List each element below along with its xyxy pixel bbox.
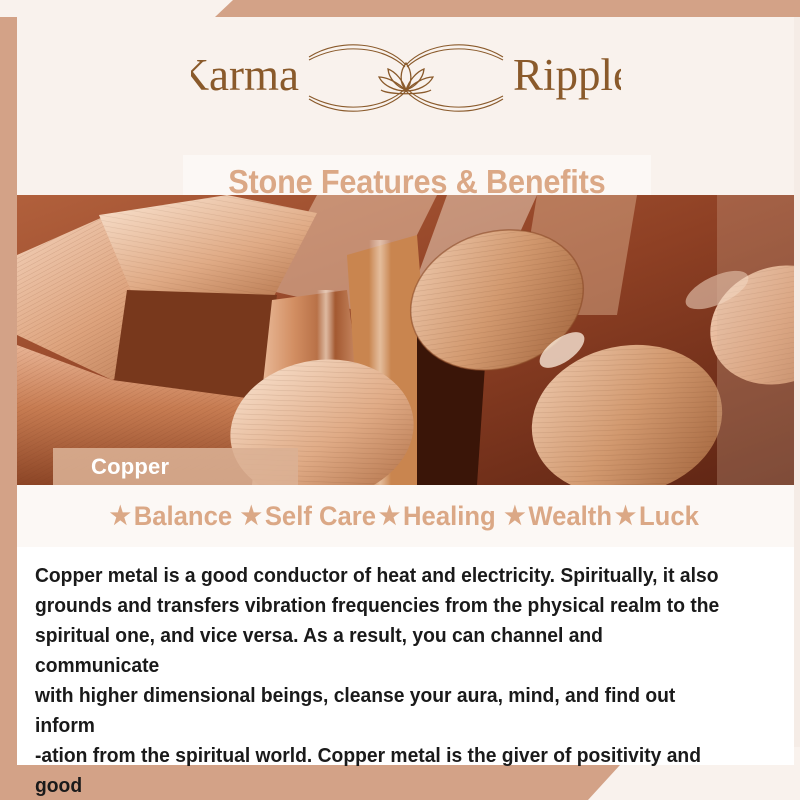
star-icon: ★ xyxy=(241,504,262,529)
star-icon: ★ xyxy=(615,504,636,529)
benefit-item-luck: Luck xyxy=(639,501,699,532)
benefit-item-self-care: Self Care xyxy=(265,501,376,532)
photo-caption-bar: Copper xyxy=(53,448,298,485)
frame-left-accent xyxy=(0,17,17,783)
description-panel: Copper metal is a good conductor of heat… xyxy=(17,547,794,765)
frame-top-accent xyxy=(215,0,800,17)
star-icon: ★ xyxy=(504,504,525,529)
header: Karma Ripple Stone Features & Benefits xyxy=(17,17,794,195)
description-text: Copper metal is a good conductor of heat… xyxy=(35,561,732,800)
star-icon: ★ xyxy=(109,504,130,529)
brand-logo: Karma Ripple xyxy=(17,35,794,121)
poster-root: Karma Ripple Stone Features & Benefits xyxy=(0,0,800,800)
benefits-row: ★ Balance ★ Self Care ★ Healing ★ Wealth… xyxy=(17,485,794,547)
benefit-item-wealth: Wealth xyxy=(528,501,612,532)
benefits-list: ★ Balance ★ Self Care ★ Healing ★ Wealth… xyxy=(109,501,701,532)
frame-right-gap xyxy=(794,17,800,747)
photo-caption: Copper xyxy=(91,454,169,480)
copper-bars-photo: Copper xyxy=(17,195,794,485)
photo-artwork xyxy=(17,195,794,485)
benefit-item-balance: Balance xyxy=(134,501,232,532)
brand-name-left: Karma xyxy=(191,50,299,100)
logo-artwork: Karma Ripple xyxy=(191,35,621,121)
star-icon: ★ xyxy=(379,504,400,529)
lotus-icon xyxy=(379,63,433,94)
benefit-item-healing: Healing xyxy=(403,501,496,532)
brand-name-right: Ripple xyxy=(513,50,621,100)
